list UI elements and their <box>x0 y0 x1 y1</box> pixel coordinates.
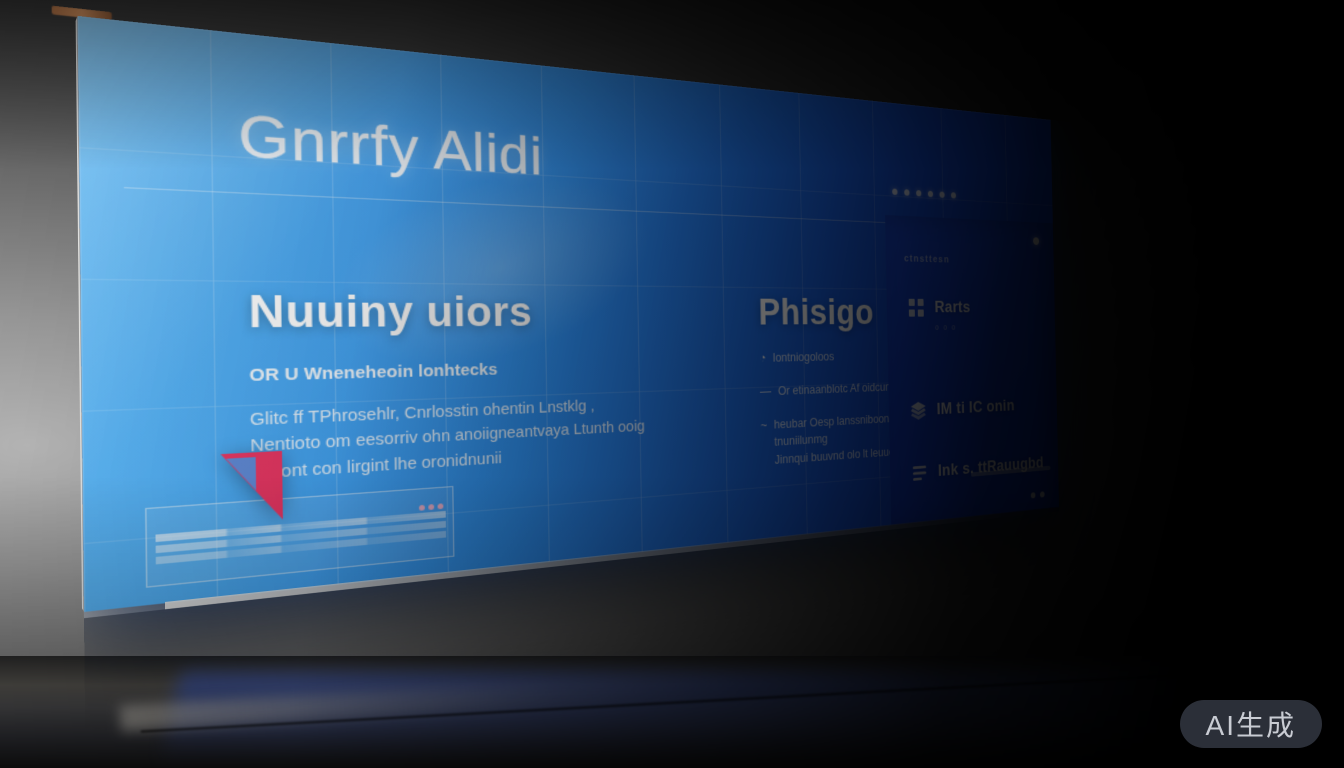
card-row <box>156 531 446 565</box>
card-row <box>156 521 446 553</box>
status-dot <box>428 504 434 510</box>
left-column-body: Glitc ff TPhrosehlr, Cnrlosstin ohentin … <box>250 391 695 487</box>
dash-icon: — <box>760 383 772 401</box>
right-sidebar: ctnsttesn Rarts o o o <box>885 215 1059 531</box>
ai-generated-badge: AI生成 <box>1180 700 1322 748</box>
status-dot <box>438 503 444 509</box>
left-column-heading: Nuuiny uiors <box>248 288 693 339</box>
perspective-scene: Gnrrfy Alidi Nuuiny uiors OR U Wneneheoi… <box>0 0 1344 768</box>
progress-dot[interactable] <box>904 189 909 196</box>
footer-dot[interactable] <box>1031 492 1036 498</box>
display-panel-face: Gnrrfy Alidi Nuuiny uiors OR U Wneneheoi… <box>77 16 1059 612</box>
status-dot <box>419 505 425 511</box>
left-column: Nuuiny uiors OR U Wneneheoin lonhtecks G… <box>248 288 695 488</box>
sidebar-footer-dots[interactable] <box>1031 491 1045 498</box>
card-status-dots <box>419 503 443 511</box>
card-row <box>156 511 446 542</box>
body-line: Glitc ff TPhrosehlr, Cnrlosstin ohentin … <box>250 391 694 434</box>
sidebar-item-meta <box>937 420 1015 424</box>
mini-data-card[interactable] <box>145 486 454 588</box>
list-icon <box>911 463 928 484</box>
sidebar-item-rarts[interactable]: Rarts o o o <box>908 298 1048 332</box>
left-column-subheading: OR U Wneneheoin lonhtecks <box>249 357 693 386</box>
progress-dot[interactable] <box>916 190 921 197</box>
swoosh-icon: ~ <box>760 416 767 434</box>
progress-dot[interactable] <box>928 191 933 197</box>
right-column-subheading: lontniogoloos <box>773 348 834 367</box>
sidebar-item-body: IM ti IC onin <box>937 397 1015 425</box>
screen-glare <box>303 145 671 404</box>
panel-content: Gnrrfy Alidi Nuuiny uiors OR U Wneneheoi… <box>77 16 1059 612</box>
progress-dots[interactable] <box>892 188 956 198</box>
pink-arrow-cutout <box>226 457 256 492</box>
page-title: Gnrrfy Alidi <box>238 102 544 188</box>
body-line: Nentioto om eesorriv ohn anoiigneantvaya… <box>250 414 695 461</box>
sidebar-item-label: IM ti IC onin <box>937 397 1015 419</box>
clock-icon: ◔ <box>759 349 766 367</box>
pink-arrow-marker <box>221 451 283 524</box>
layers-icon <box>910 401 927 421</box>
scene-root: Gnrrfy Alidi Nuuiny uiors OR U Wneneheoi… <box>0 0 1344 768</box>
footer-dot[interactable] <box>1040 491 1045 497</box>
sidebar-item-im-ic[interactable]: IM ti IC onin <box>910 395 1049 426</box>
sidebar-item-label: Rarts <box>934 298 970 316</box>
progress-dot[interactable] <box>892 188 897 195</box>
sidebar-header: ctnsttesn <box>904 253 950 265</box>
progress-dot[interactable] <box>939 191 944 197</box>
progress-dot[interactable] <box>951 192 956 198</box>
sidebar-item-body: Rarts o o o <box>934 298 970 331</box>
display-panel-3d: Gnrrfy Alidi Nuuiny uiors OR U Wneneheoi… <box>77 16 1059 612</box>
sidebar-item-meta: o o o <box>935 323 971 332</box>
sidebar-indicator-dot <box>1033 237 1039 245</box>
grid-icon <box>908 298 925 318</box>
body-line: PWont con lirgint lhe oronidnunii <box>250 436 695 488</box>
card-rows <box>150 507 451 568</box>
